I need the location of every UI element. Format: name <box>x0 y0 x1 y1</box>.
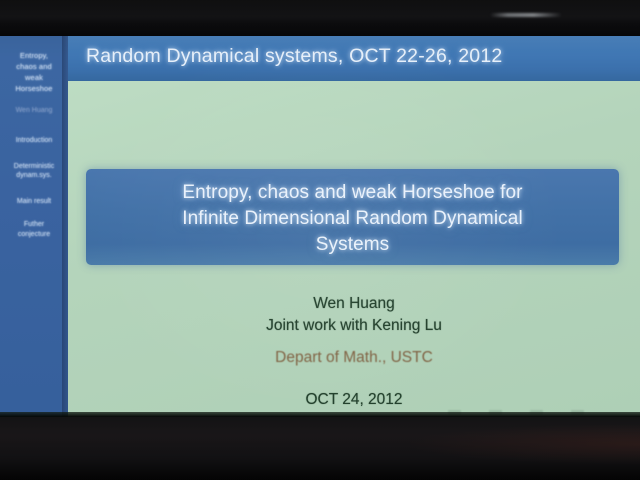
slide-title-line-1: Entropy, chaos and weak Horseshoe for <box>86 180 619 206</box>
slide-content-area: Entropy, chaos and weak Horseshoe for In… <box>68 81 640 417</box>
beamer-slide: Entropy, chaos and weak Horseshoe Wen Hu… <box>0 36 640 417</box>
slide-title-line-3: Systems <box>86 232 619 258</box>
beamer-sidebar: Entropy, chaos and weak Horseshoe Wen Hu… <box>0 36 68 417</box>
author-name: Wen Huang <box>68 293 640 315</box>
sidebar-short-title-line-1: Entropy, <box>4 50 64 61</box>
sidebar-short-title-line-2: chaos and <box>4 61 64 72</box>
sidebar-short-title-line-3: weak <box>4 72 64 83</box>
sidebar-item-futher-conjecture[interactable]: Futher conjecture <box>0 220 68 239</box>
author-block: Wen Huang Joint work with Kening Lu <box>68 293 640 337</box>
sidebar-item-main-result-label: Main result <box>17 198 51 205</box>
sidebar-item-introduction[interactable]: Introduction <box>0 136 68 146</box>
joint-work-note: Joint work with Kening Lu <box>68 315 640 337</box>
projected-slide-photo: Entropy, chaos and weak Horseshoe Wen Hu… <box>0 0 640 480</box>
sidebar-item-deterministic-label-line-2: dynam.sys. <box>2 171 66 181</box>
sidebar-item-futher-label-line-1: Futher <box>2 220 66 230</box>
presentation-date: OCT 24, 2012 <box>68 391 640 409</box>
sidebar-item-deterministic-label-line-1: Deterministic <box>2 162 66 172</box>
ceiling-light-streak <box>490 13 562 17</box>
sidebar-author: Wen Huang <box>0 106 68 116</box>
title-block: Entropy, chaos and weak Horseshoe for In… <box>86 169 619 265</box>
affiliation-text: Depart of Math., USTC <box>68 349 640 367</box>
room-ceiling-dark-area <box>0 0 640 36</box>
sidebar-item-deterministic-dynamical-systems[interactable]: Deterministic dynam.sys. <box>0 162 68 181</box>
sidebar-short-title: Entropy, chaos and weak Horseshoe <box>0 46 68 94</box>
slide-title-line-2: Infinite Dimensional Random Dynamical <box>86 206 619 232</box>
sidebar-short-title-line-4: Horseshoe <box>4 83 64 94</box>
beamer-header-bar: Random Dynamical systems, OCT 22-26, 201… <box>68 36 640 81</box>
sidebar-item-introduction-label: Introduction <box>16 137 53 144</box>
sidebar-item-main-result[interactable]: Main result <box>0 197 68 207</box>
slide-title: Entropy, chaos and weak Horseshoe for In… <box>86 180 619 258</box>
header-title: Random Dynamical systems, OCT 22-26, 201… <box>86 45 502 68</box>
room-warm-light-glow <box>410 424 640 464</box>
sidebar-item-futher-label-line-2: conjecture <box>2 230 66 240</box>
